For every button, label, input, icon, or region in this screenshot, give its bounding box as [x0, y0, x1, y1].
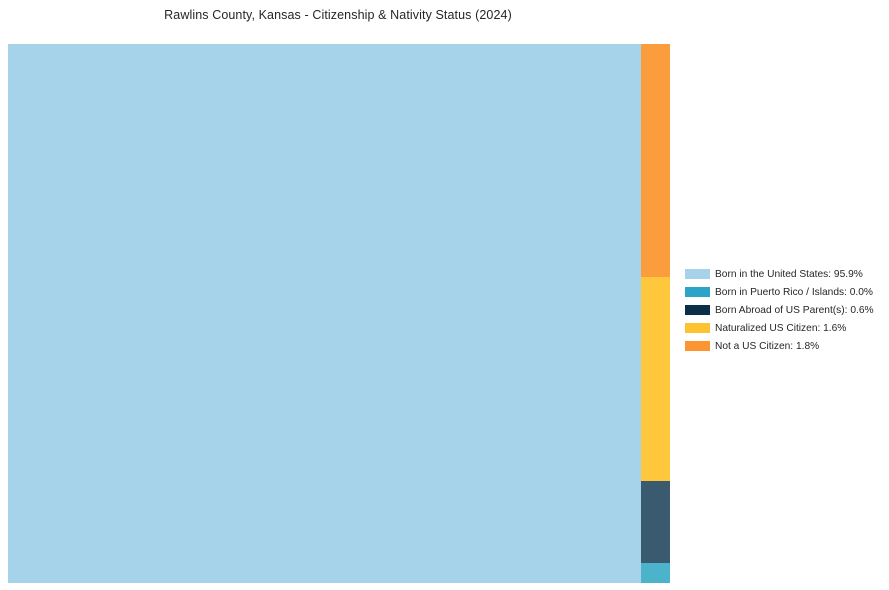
legend-item-born-in-the-united-states[interactable]: Born in the United States: 95.9%: [685, 265, 885, 283]
legend-swatch-icon: [685, 305, 710, 315]
treemap-tile-born-in-puerto-rico-islands[interactable]: [641, 563, 670, 583]
treemap-tile-born-abroad-of-us-parents[interactable]: [641, 481, 670, 563]
legend-item-label: Not a US Citizen: 1.8%: [715, 341, 819, 352]
legend-item-born-abroad-of-us-parents[interactable]: Born Abroad of US Parent(s): 0.6%: [685, 301, 885, 319]
legend-swatch-icon: [685, 269, 710, 279]
treemap-plot-area: [8, 44, 670, 583]
chart-figure: Rawlins County, Kansas - Citizenship & N…: [0, 0, 889, 590]
legend-swatch-icon: [685, 323, 710, 333]
legend-item-not-a-us-citizen[interactable]: Not a US Citizen: 1.8%: [685, 337, 885, 355]
treemap-tile-naturalized-us-citizen[interactable]: [641, 277, 670, 481]
legend-item-label: Born in Puerto Rico / Islands: 0.0%: [715, 287, 873, 298]
legend-item-born-in-puerto-rico-islands[interactable]: Born in Puerto Rico / Islands: 0.0%: [685, 283, 885, 301]
legend-swatch-icon: [685, 287, 710, 297]
treemap-tile-not-a-us-citizen[interactable]: [641, 44, 670, 277]
legend-item-label: Born Abroad of US Parent(s): 0.6%: [715, 305, 874, 316]
legend-item-naturalized-us-citizen[interactable]: Naturalized US Citizen: 1.6%: [685, 319, 885, 337]
legend-item-label: Born in the United States: 95.9%: [715, 269, 863, 280]
treemap-tile-born-in-the-united-states[interactable]: [8, 44, 641, 583]
chart-title: Rawlins County, Kansas - Citizenship & N…: [0, 8, 676, 22]
legend-item-label: Naturalized US Citizen: 1.6%: [715, 323, 846, 334]
chart-legend: Born in the United States: 95.9% Born in…: [685, 265, 885, 355]
legend-swatch-icon: [685, 341, 710, 351]
